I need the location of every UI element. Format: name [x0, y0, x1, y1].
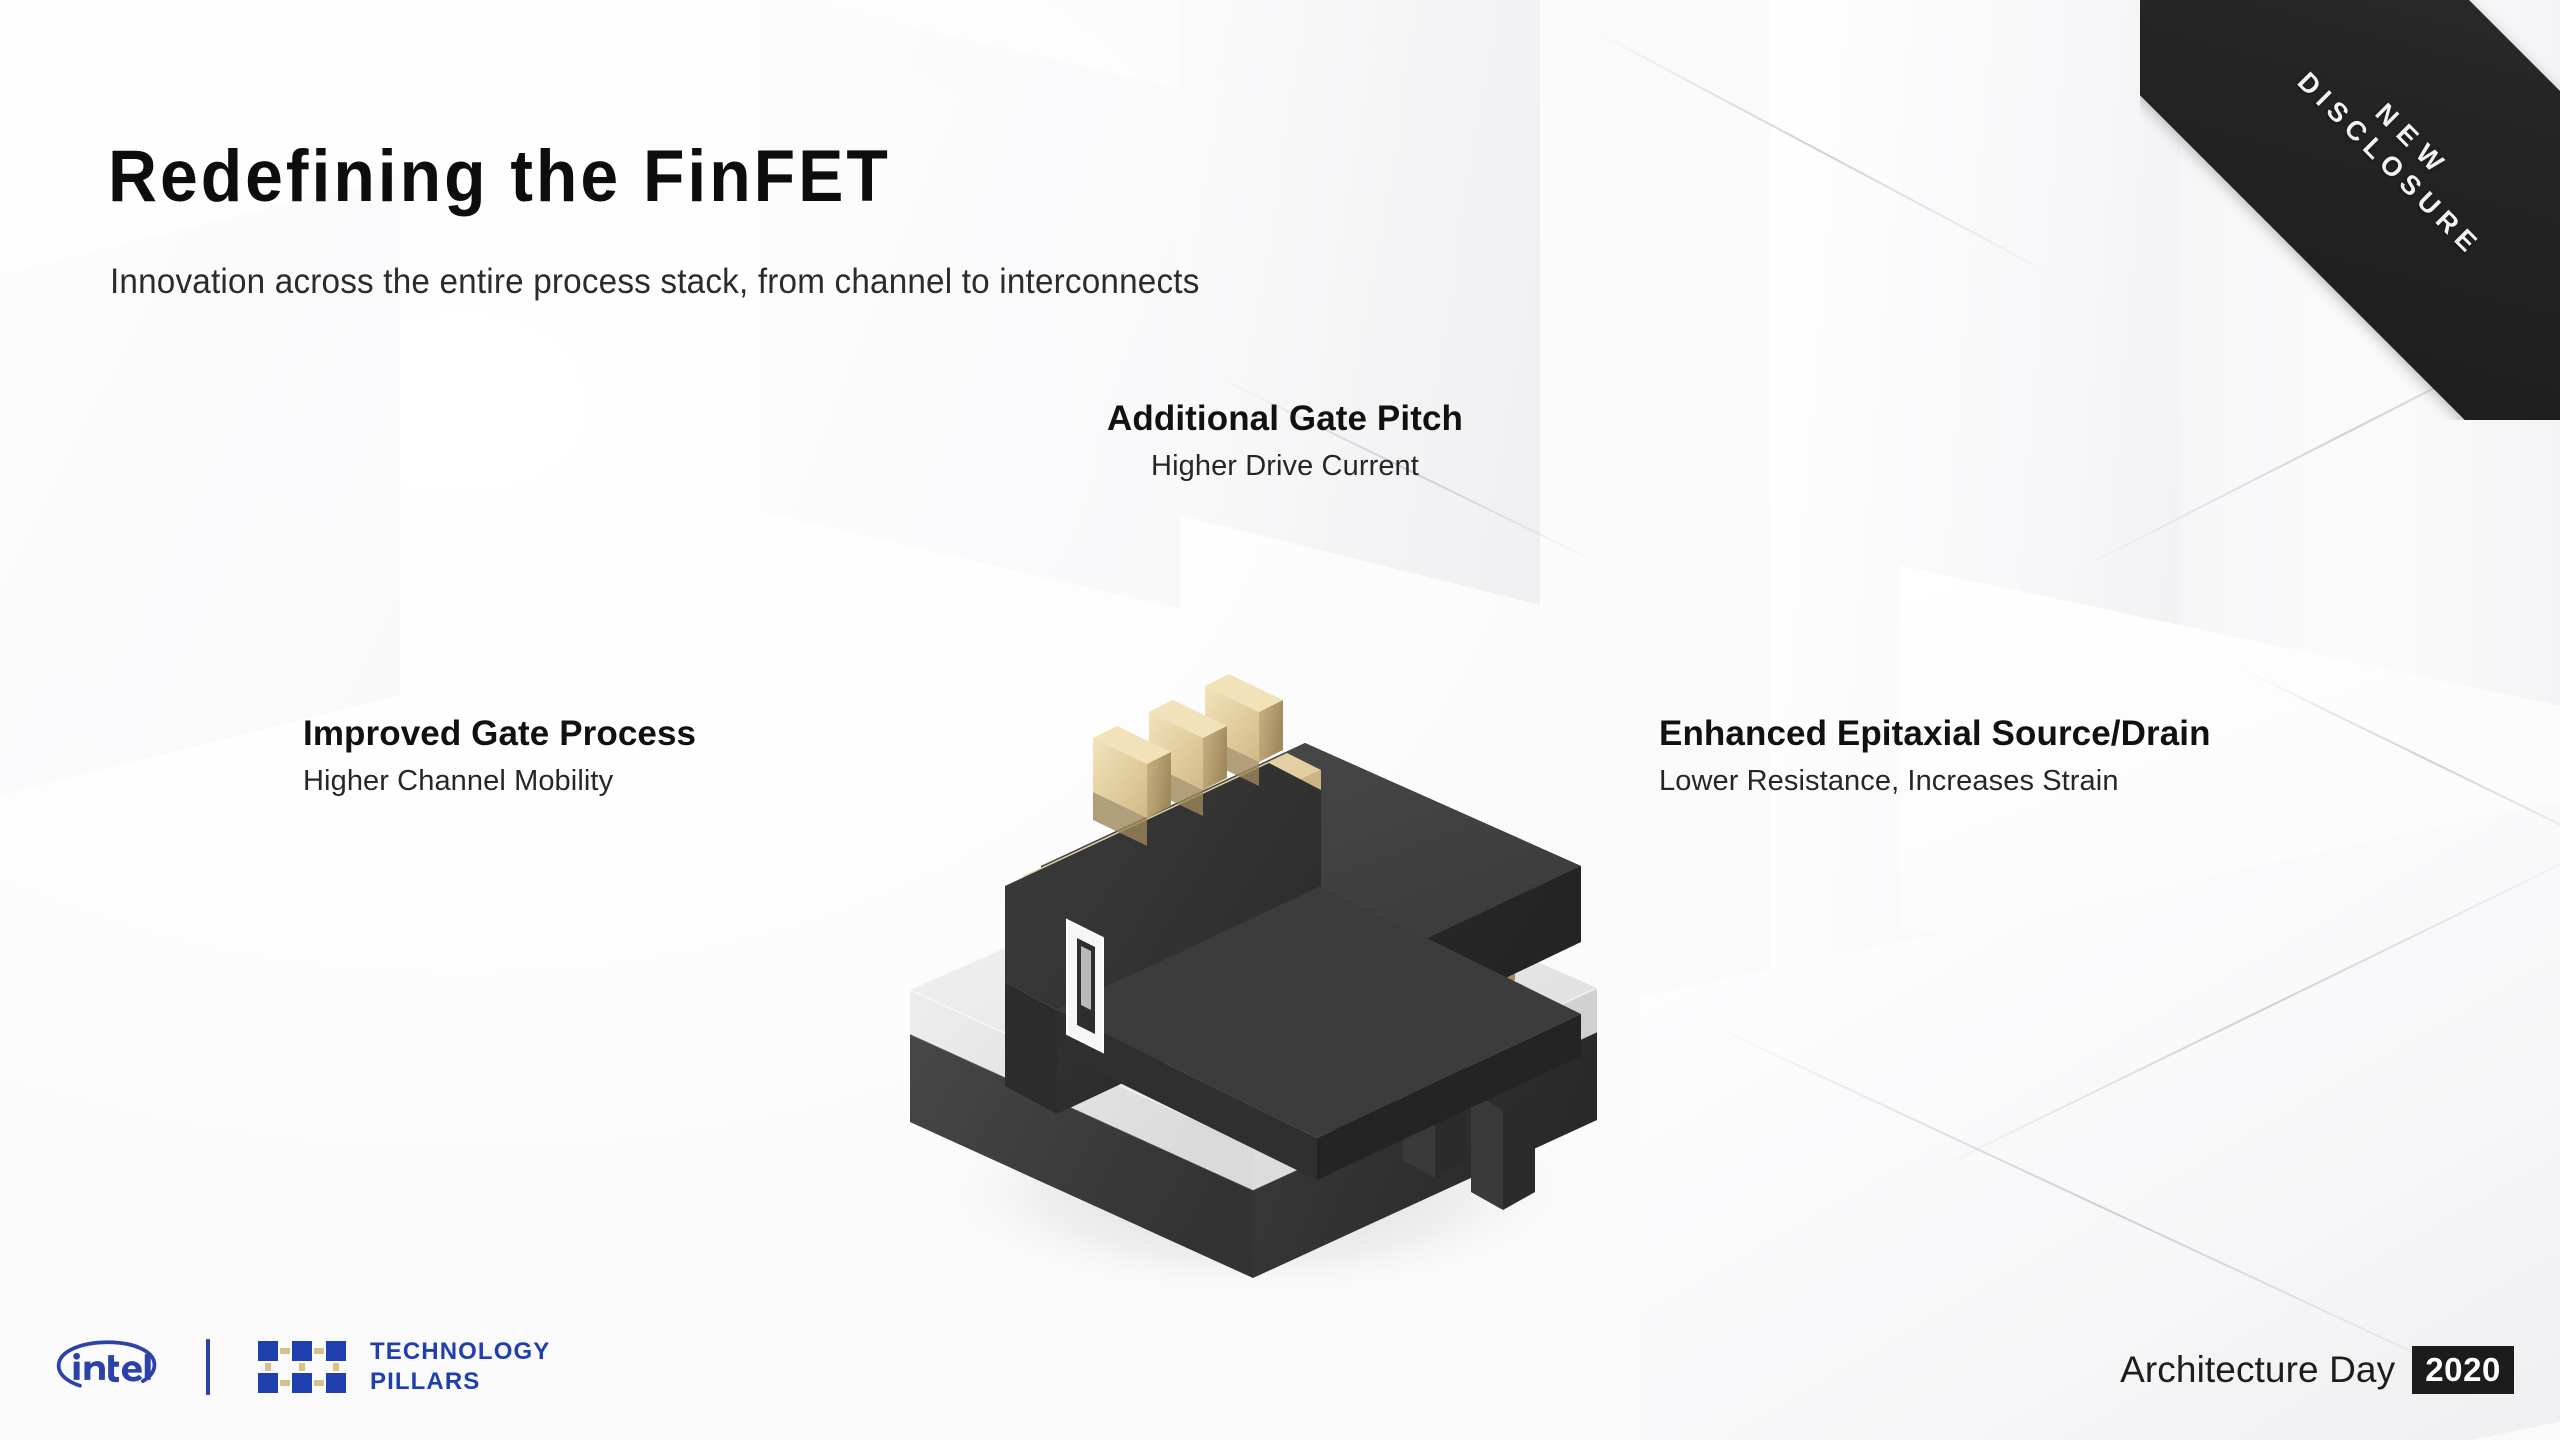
fin-pedestal-3 [1471, 1092, 1503, 1210]
intel-wordmark [73, 1353, 150, 1382]
footer-branding: TECHNOLOGY PILLARS [52, 1337, 550, 1396]
bg-shape-upper-mid [1180, 0, 1540, 605]
footer-divider [206, 1339, 210, 1395]
callout-enhanced-epitaxial-source-drain: Enhanced Epitaxial Source/Drain Lower Re… [1659, 713, 2211, 801]
slide-canvas: NEW DISCLOSURE Redefining the FinFET Inn… [0, 0, 2560, 1440]
pillars-line-1: TECHNOLOGY [370, 1337, 550, 1366]
page-title: Redefining the FinFET [108, 135, 891, 218]
bg-edge-6 [2241, 668, 2560, 854]
callout-title: Enhanced Epitaxial Source/Drain [1659, 713, 2211, 754]
callout-title: Improved Gate Process [303, 713, 696, 754]
callout-title: Additional Gate Pitch [1045, 398, 1525, 439]
technology-pillars-wordmark: TECHNOLOGY PILLARS [370, 1337, 550, 1396]
bg-shape-center [760, 0, 1180, 608]
bg-shape-right-block [1900, 566, 2560, 1075]
page-subtitle: Innovation across the entire process sta… [110, 262, 1200, 302]
bg-shape-floor [1640, 763, 2560, 1440]
intel-logo [52, 1339, 160, 1395]
bg-edge-2 [1918, 844, 2560, 1179]
bg-shape-right-wall [1770, 0, 2200, 1010]
detail-window-fin [1081, 946, 1091, 1010]
callout-additional-gate-pitch: Additional Gate Pitch Higher Drive Curre… [1045, 398, 1525, 486]
finfet-transistor-illustration [855, 590, 1715, 1290]
bg-edge-1 [1590, 28, 2050, 274]
callout-subtitle: Lower Resistance, Increases Strain [1659, 763, 2211, 801]
event-name: Architecture Day [2120, 1349, 2395, 1391]
channel-cross-section-detail [1067, 920, 1103, 1052]
callout-subtitle: Higher Drive Current [1045, 448, 1525, 486]
new-disclosure-ribbon: NEW DISCLOSURE [2140, 0, 2560, 420]
event-year-badge: 2020 [2412, 1346, 2514, 1394]
fin-pedestal-3-side [1503, 1092, 1535, 1210]
footer-event: Architecture Day 2020 [2120, 1346, 2514, 1394]
callout-subtitle: Higher Channel Mobility [303, 763, 696, 801]
bg-edge-3 [1702, 1020, 2519, 1402]
technology-pillars-icon [256, 1339, 348, 1395]
callout-improved-gate-process: Improved Gate Process Higher Channel Mob… [303, 713, 696, 801]
pillars-line-2: PILLARS [370, 1367, 550, 1396]
